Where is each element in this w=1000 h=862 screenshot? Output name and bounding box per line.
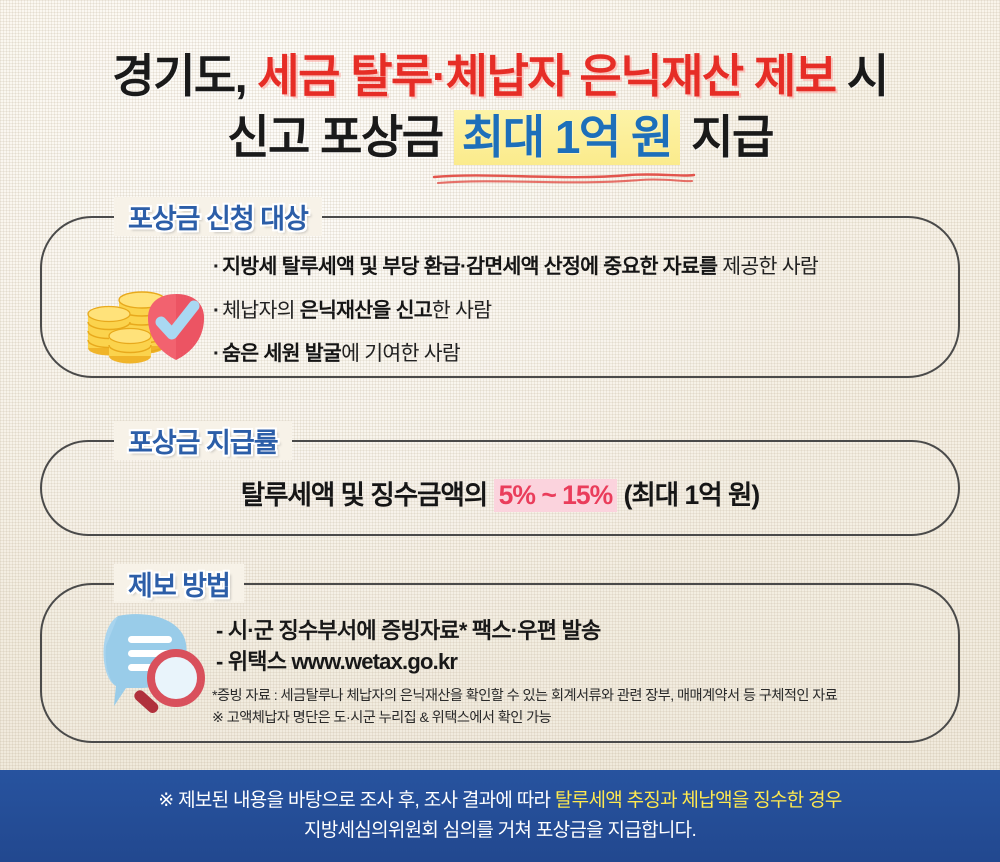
bullet-2-normal: 한 사람 xyxy=(432,299,491,322)
bullet-2-pre: 체납자의 xyxy=(222,299,300,322)
section-heading-method: 제보 방법 xyxy=(114,564,244,603)
section-heading-eligibility: 포상금 신청 대상 xyxy=(114,197,322,236)
list-item: ·숨은 세원 발굴에 기여한 사람 xyxy=(213,344,953,365)
poster-title: 경기도, 세금 탈루·체납자 은닉재산 제보 시 신고 포상금 최대 1억 원 … xyxy=(0,46,1000,167)
bullet-dot: · xyxy=(213,255,219,278)
reward-rate-statement: 탈루세액 및 징수금액의 5% ~ 15% (최대 1억 원) xyxy=(0,473,1000,512)
list-item: ·지방세 탈루세액 및 부당 환급·감면세액 산정에 중요한 자료를 제공한 사… xyxy=(213,257,953,278)
bullet-3-bold: 숨은 세원 발굴 xyxy=(222,342,341,365)
footer-line-2: 지방세심의위원회 심의를 거쳐 포상금을 지급합니다. xyxy=(304,818,696,844)
footer-line1-highlight: 탈루세액 추징과 체납액을 징수한 경우 xyxy=(555,790,842,811)
bullet-2-bold: 은닉재산을 신고 xyxy=(300,299,432,322)
poster-canvas: 경기도, 세금 탈루·체납자 은닉재산 제보 시 신고 포상금 최대 1억 원 … xyxy=(0,0,1000,862)
footer-line-1: ※ 제보된 내용을 바탕으로 조사 후, 조사 결과에 따라 탈루세액 추징과 … xyxy=(158,788,841,814)
bullet-1-normal: 제공한 사람 xyxy=(717,255,818,278)
bullet-dot: · xyxy=(213,299,219,322)
report-method-notes: *증빙 자료 : 세금탈루나 체납자의 은닉재산을 확인할 수 있는 회계서류와… xyxy=(212,685,972,729)
title-line1-part-c: 시 xyxy=(847,50,888,102)
title-line2-part-a: 신고 포상금 xyxy=(227,111,442,163)
note-evidence-docs: *증빙 자료 : 세금탈루나 체납자의 은닉재산을 확인할 수 있는 회계서류와… xyxy=(212,685,972,707)
title-line2-part-b: 지급 xyxy=(691,111,773,163)
coins-check-icon xyxy=(80,256,208,368)
title-line-2: 신고 포상금 최대 1억 원 지급 xyxy=(0,107,1000,168)
title-highlight-amount: 최대 1억 원 xyxy=(454,110,680,165)
bullet-3-normal: 에 기여한 사람 xyxy=(341,342,460,365)
footer-line1-prefix: ※ 제보된 내용을 바탕으로 조사 후, 조사 결과에 따라 xyxy=(158,790,555,811)
red-underline-scribble xyxy=(430,170,698,190)
list-item: ·체납자의 은닉재산을 신고한 사람 xyxy=(213,301,953,322)
bullet-dot: · xyxy=(213,342,219,365)
title-line1-part-a: 경기도, xyxy=(112,50,246,102)
note-delinquent-list: ※ 고액체납자 명단은 도·시군 누리집 & 위택스에서 확인 가능 xyxy=(212,707,972,729)
method-line-fax: - 시·군 징수부서에 증빙자료* 팩스·우편 발송 xyxy=(216,615,956,646)
method-line-wetax: - 위택스 www.wetax.go.kr xyxy=(216,646,956,677)
title-line-1: 경기도, 세금 탈루·체납자 은닉재산 제보 시 xyxy=(0,46,1000,107)
section-heading-rate: 포상금 지급률 xyxy=(114,421,292,460)
title-line1-part-b: 세금 탈루·체납자 은닉재산 제보 xyxy=(257,50,835,102)
speech-magnifier-icon xyxy=(96,608,214,720)
eligibility-bullet-list: ·지방세 탈루세액 및 부당 환급·감면세액 산정에 중요한 자료를 제공한 사… xyxy=(213,257,953,388)
bullet-1-bold: 지방세 탈루세액 및 부당 환급·감면세액 산정에 중요한 자료를 xyxy=(222,255,717,278)
rate-highlight-value: 5% ~ 15% xyxy=(494,479,618,512)
footer-banner: ※ 제보된 내용을 바탕으로 조사 후, 조사 결과에 따라 탈루세액 추징과 … xyxy=(0,770,1000,862)
rate-prefix: 탈루세액 및 징수금액의 xyxy=(241,480,494,510)
report-method-list: - 시·군 징수부서에 증빙자료* 팩스·우편 발송 - 위택스 www.wet… xyxy=(216,615,956,677)
rate-suffix: (최대 1억 원) xyxy=(617,480,759,510)
